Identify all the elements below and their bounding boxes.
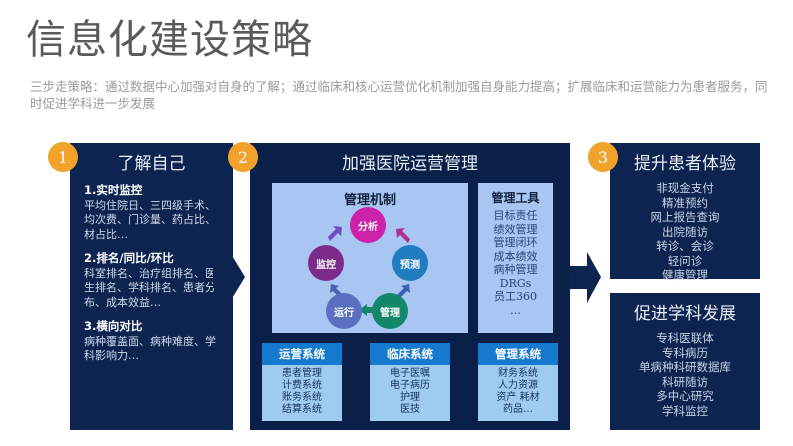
step-badge-3: 3: [588, 142, 618, 172]
system-box-list: 财务系统 人力资源 资产 耗材 药品…: [478, 365, 558, 416]
cycle-node-monitor[interactable]: 监控: [308, 245, 344, 281]
list-item: 目标责任: [478, 209, 553, 223]
list-item: 计费系统: [262, 380, 342, 392]
list-item: 多中心研究: [616, 389, 754, 404]
list-item: 员工360: [478, 290, 553, 304]
item-label: 2.排名/同比/环比: [84, 251, 221, 266]
list-item: 药品…: [478, 404, 558, 416]
list-item: 财务系统: [478, 368, 558, 380]
column-1-heading: 了解自己: [70, 153, 233, 175]
list-item: 绩效管理: [478, 223, 553, 237]
list-item: 科研随访: [616, 375, 754, 390]
list-item: DRGs: [478, 277, 553, 291]
list-item: 单病种科研数据库: [616, 360, 754, 375]
cycle-node-manage[interactable]: 管理: [372, 293, 408, 329]
list-item: 管理闭环: [478, 236, 553, 250]
system-box-header: 运营系统: [262, 343, 342, 365]
flow-arrow-2: [569, 250, 601, 305]
list-item: 人力资源: [478, 380, 558, 392]
system-box-management[interactable]: 管理系统 财务系统 人力资源 资产 耗材 药品…: [478, 343, 558, 421]
list-item: 结算系统: [262, 404, 342, 416]
list-item: 3.横向对比 病种覆盖面、病种难度、学科影响力…: [84, 319, 221, 364]
system-box-list: 患者管理 计费系统 账务系统 结算系统: [262, 365, 342, 416]
cycle-node-analysis[interactable]: 分析: [350, 207, 386, 243]
item-text: 平均住院日、三四级手术、均次费、门诊量、药占比、材占比…: [84, 199, 221, 243]
system-box-clinical[interactable]: 临床系统 电子医嘱 电子病历 护理 医技: [370, 343, 450, 421]
list-item: 电子医嘱: [370, 368, 450, 380]
slide-canvas: 信息化建设策略 三步走策略：通过数据中心加强对自身的了解；通过临床和核心运营优化…: [0, 0, 793, 446]
management-mechanism-panel: 管理机制 分析 预测 管理 运行 监控: [272, 183, 468, 333]
item-text: 病种覆盖面、病种难度、学科影响力…: [84, 335, 221, 364]
list-item: 非现金支付: [616, 181, 754, 196]
list-item: 专科病历: [616, 346, 754, 361]
list-item: 精准预约: [616, 196, 754, 211]
page-title: 信息化建设策略: [26, 14, 313, 66]
column-4-panel[interactable]: 促进学科发展 专科医联体 专科病历 单病种科研数据库 科研随访 多中心研究 学科…: [610, 293, 760, 430]
list-item: 学科监控: [616, 404, 754, 419]
flow-arrow-1: [213, 252, 245, 302]
list-item: 成本绩效: [478, 250, 553, 264]
list-item: 出院随访: [616, 225, 754, 240]
column-4-list: 专科医联体 专科病历 单病种科研数据库 科研随访 多中心研究 学科监控: [616, 331, 754, 418]
column-3-list: 非现金支付 精准预约 网上报告查询 出院随访 转诊、会诊 轻问诊 健康管理: [616, 181, 754, 283]
system-box-header: 临床系统: [370, 343, 450, 365]
mechanism-title: 管理机制: [272, 189, 468, 208]
step-badge-2: 2: [228, 142, 258, 172]
column-4-heading: 促进学科发展: [610, 303, 760, 325]
list-item: 健康管理: [616, 268, 754, 283]
list-item: 医技: [370, 404, 450, 416]
list-item: 账务系统: [262, 392, 342, 404]
system-box-list: 电子医嘱 电子病历 护理 医技: [370, 365, 450, 416]
system-box-operations[interactable]: 运营系统 患者管理 计费系统 账务系统 结算系统: [262, 343, 342, 421]
cycle-node-forecast[interactable]: 预测: [392, 245, 428, 281]
cycle-node-operate[interactable]: 运行: [326, 293, 362, 329]
list-item: 电子病历: [370, 380, 450, 392]
column-2-panel[interactable]: 加强医院运营管理 管理机制 分析 预测 管理 运行 监控: [250, 143, 570, 430]
list-item: 网上报告查询: [616, 210, 754, 225]
column-2-heading: 加强医院运营管理: [250, 153, 570, 175]
management-tools-panel: 管理工具 目标责任 绩效管理 管理闭环 成本绩效 病种管理 DRGs 员工360…: [478, 183, 553, 333]
tools-title: 管理工具: [478, 189, 553, 206]
list-item: 转诊、会诊: [616, 239, 754, 254]
column-3-panel[interactable]: 提升患者体验 非现金支付 精准预约 网上报告查询 出院随访 转诊、会诊 轻问诊 …: [610, 143, 760, 279]
item-label: 1.实时监控: [84, 183, 221, 198]
list-item: …: [478, 304, 553, 318]
column-1-body: 1.实时监控 平均住院日、三四级手术、均次费、门诊量、药占比、材占比… 2.排名…: [84, 183, 221, 373]
list-item: 轻问诊: [616, 254, 754, 269]
list-item: 专科医联体: [616, 331, 754, 346]
cycle-arrow-icon: [394, 227, 412, 245]
list-item: 患者管理: [262, 368, 342, 380]
page-subtitle: 三步走策略：通过数据中心加强对自身的了解；通过临床和核心运营优化机制加强自身能力…: [30, 78, 770, 112]
step-badge-1: 1: [48, 142, 78, 172]
item-text: 科室排名、治疗组排名、医生排名、学科排名、患者分布、成本效益…: [84, 267, 221, 311]
column-3-heading: 提升患者体验: [610, 153, 760, 175]
cycle-arrow-icon: [326, 225, 344, 243]
list-item: 资产 耗材: [478, 392, 558, 404]
list-item: 病种管理: [478, 263, 553, 277]
system-box-header: 管理系统: [478, 343, 558, 365]
tools-list: 目标责任 绩效管理 管理闭环 成本绩效 病种管理 DRGs 员工360 …: [478, 209, 553, 317]
column-1-panel[interactable]: 了解自己 1.实时监控 平均住院日、三四级手术、均次费、门诊量、药占比、材占比……: [70, 143, 233, 430]
list-item: 1.实时监控 平均住院日、三四级手术、均次费、门诊量、药占比、材占比…: [84, 183, 221, 242]
list-item: 护理: [370, 392, 450, 404]
list-item: 2.排名/同比/环比 科室排名、治疗组排名、医生排名、学科排名、患者分布、成本效…: [84, 251, 221, 310]
item-label: 3.横向对比: [84, 319, 221, 334]
